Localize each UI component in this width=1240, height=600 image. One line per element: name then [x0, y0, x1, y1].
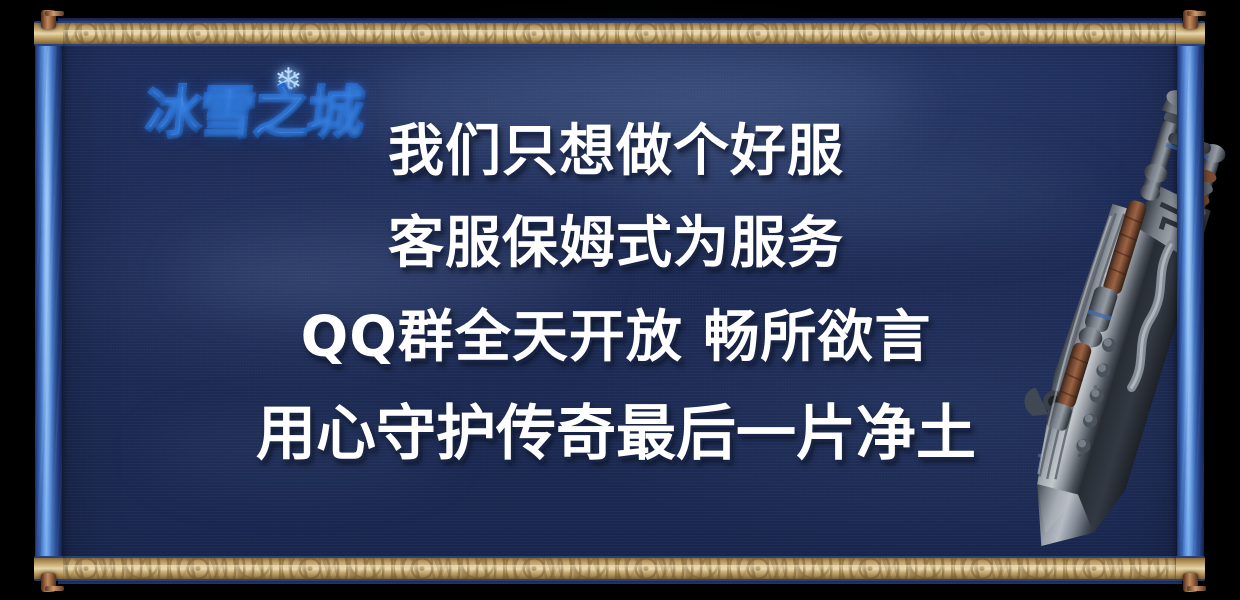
- rod-knob-cap: [45, 11, 64, 16]
- rod-sheen: [44, 28, 50, 574]
- rod-sheen: [1186, 28, 1192, 574]
- rod-knob-cap: [45, 586, 64, 591]
- snowflake-icon: ❄: [274, 64, 303, 98]
- slogan-line-3: QQ群全天开放 畅所欲言: [116, 300, 1116, 376]
- rod-knob-top: [41, 10, 56, 29]
- blade-tip: [1020, 482, 1103, 559]
- gold-band-bottom: [58, 556, 1182, 581]
- handle-upper-shaft: [1141, 119, 1179, 197]
- gold-motif: [58, 558, 1182, 579]
- guard-strut: [1126, 244, 1177, 388]
- rod-knob-top: [1183, 10, 1198, 29]
- rod-knob-cap: [1187, 586, 1206, 591]
- slogan-block: 我们只想做个好服 客服保姆式为服务 QQ群全天开放 畅所欲言 用心守护传奇最后一…: [116, 114, 1116, 474]
- scroll-panel: ❄ 冰雪之城 我们只想做个好服 客服保姆式为服务 QQ群全天开放 畅所欲言 用心…: [58, 18, 1182, 584]
- rod-shaft: [1177, 28, 1204, 574]
- handle-bead: [1142, 161, 1170, 185]
- rod-shaft: [35, 28, 62, 574]
- scroll-rod-right: [1177, 10, 1204, 592]
- handle-bead: [1138, 182, 1162, 203]
- gold-band-top: [58, 21, 1182, 46]
- slogan-line-2: 客服保姆式为服务: [116, 206, 1116, 282]
- rod-knob-bottom: [41, 573, 56, 592]
- promo-banner: ❄ 冰雪之城 我们只想做个好服 客服保姆式为服务 QQ群全天开放 畅所欲言 用心…: [0, 0, 1240, 600]
- rod-knob-bottom: [1183, 573, 1198, 592]
- slogan-line-4: 用心守护传奇最后一片净土: [116, 394, 1116, 474]
- rod-knob-cap: [1187, 11, 1206, 16]
- scroll-rod-left: [35, 10, 62, 592]
- gold-motif: [58, 23, 1182, 44]
- slogan-line-1: 我们只想做个好服: [116, 114, 1116, 190]
